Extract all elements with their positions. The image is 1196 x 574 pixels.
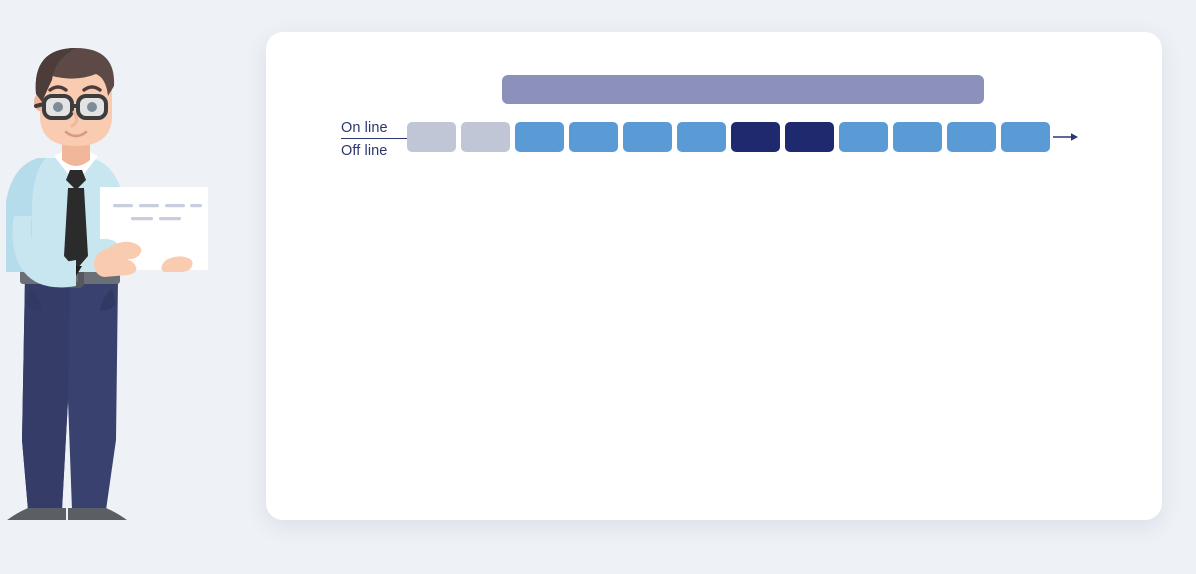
eye-left (53, 102, 63, 112)
timeline-block-off[interactable] (731, 122, 780, 152)
timeline-block-on[interactable] (947, 122, 996, 152)
timeline-arrow (1053, 130, 1079, 144)
pants-left-leg-shade (22, 278, 70, 510)
tie-body (64, 188, 88, 270)
timeline-block-off[interactable] (785, 122, 834, 152)
eye-right (87, 102, 97, 112)
timeline-block-no-data[interactable] (461, 122, 510, 152)
shoe-right (68, 508, 133, 520)
timeline-block-on[interactable] (839, 122, 888, 152)
timeline-block-on[interactable] (1001, 122, 1050, 152)
summary-bar[interactable] (502, 75, 984, 104)
man-presenting-document-illustration (0, 40, 230, 520)
timeline-block-on[interactable] (515, 122, 564, 152)
timeline-block-on[interactable] (677, 122, 726, 152)
timeline-blocks (407, 122, 1050, 152)
shoe-left (1, 508, 66, 520)
axis-label-offline: Off line (341, 144, 387, 159)
axis-divider-line (341, 138, 413, 139)
timeline-block-on[interactable] (623, 122, 672, 152)
content-card (266, 32, 1162, 520)
online-offline-timeline-chart: On line Off line (335, 116, 1080, 166)
axis-label-online: On line (341, 121, 388, 136)
timeline-block-no-data[interactable] (407, 122, 456, 152)
axis-labels: On line Off line (341, 116, 413, 164)
timeline-block-on[interactable] (569, 122, 618, 152)
timeline-block-on[interactable] (893, 122, 942, 152)
glasses-temple (36, 104, 44, 106)
